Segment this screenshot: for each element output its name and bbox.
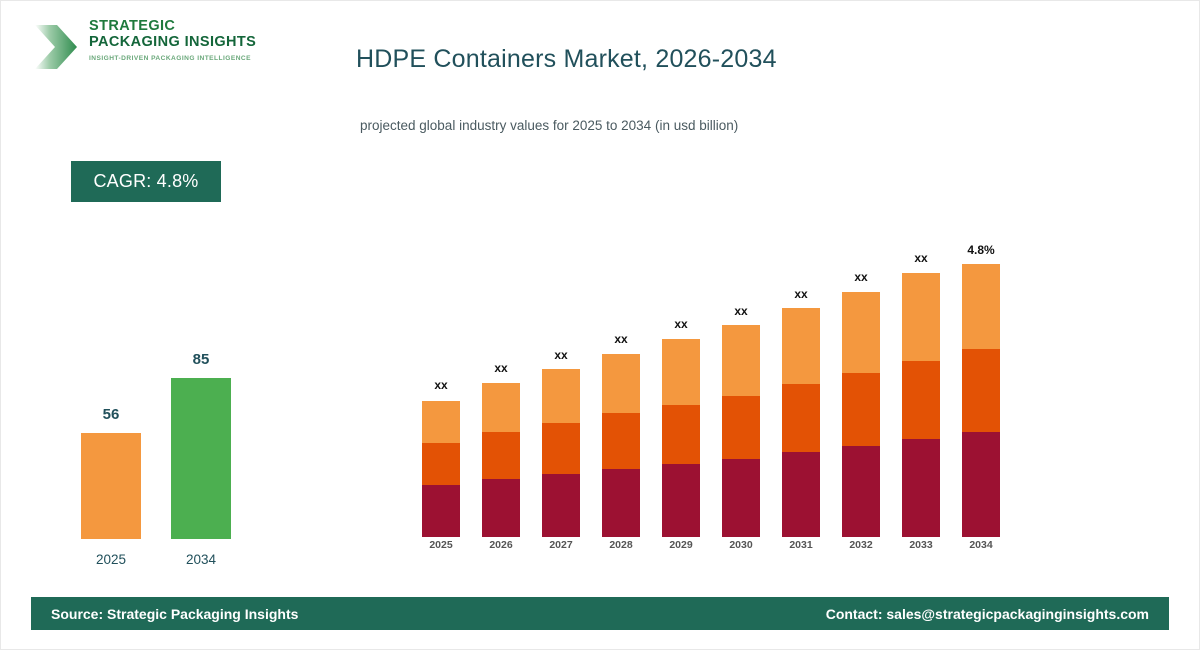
x-label-2025: 2025 xyxy=(411,539,471,551)
segment-segment-2-2034 xyxy=(962,349,1000,432)
bar-2025 xyxy=(81,433,141,539)
endpoint-plot-area: 5685 xyxy=(61,359,291,539)
footer-source: Source: Strategic Packaging Insights xyxy=(51,606,298,622)
segment-segment-3-2030 xyxy=(722,325,760,396)
segment-segment-3-2034 xyxy=(962,264,1000,349)
stacked-bar-2027 xyxy=(542,369,580,537)
x-label-2025: 2025 xyxy=(81,552,141,567)
segment-segment-2-2026 xyxy=(482,432,520,479)
segment-segment-1-2031 xyxy=(782,452,820,537)
bar-top-label-2027: xx xyxy=(531,348,591,362)
stacked-bar-2026 xyxy=(482,383,520,537)
bar-top-label-2033: xx xyxy=(891,251,951,265)
x-label-2028: 2028 xyxy=(591,539,651,551)
x-label-2026: 2026 xyxy=(471,539,531,551)
segment-segment-3-2027 xyxy=(542,369,580,423)
segment-segment-2-2033 xyxy=(902,361,940,439)
segment-segment-1-2027 xyxy=(542,474,580,537)
x-label-2033: 2033 xyxy=(891,539,951,551)
stacked-bar-2034 xyxy=(962,264,1000,537)
segment-segment-3-2025 xyxy=(422,401,460,443)
brand-name-line2: PACKAGING INSIGHTS xyxy=(89,35,256,51)
segment-segment-2-2032 xyxy=(842,373,880,446)
brand-name-line1: STRATEGIC xyxy=(89,19,256,35)
bar-top-label-2030: xx xyxy=(711,304,771,318)
footer-bar: Source: Strategic Packaging Insights Con… xyxy=(31,597,1169,630)
segment-segment-3-2032 xyxy=(842,292,880,373)
footer-contact[interactable]: Contact: sales@strategicpackaginginsight… xyxy=(826,606,1149,622)
bar-value-2034: 85 xyxy=(171,351,231,368)
bar-top-label-2029: xx xyxy=(651,317,711,331)
cagr-badge: CAGR: 4.8% xyxy=(71,161,221,202)
segment-segment-2-2027 xyxy=(542,423,580,474)
page-subtitle: projected global industry values for 202… xyxy=(360,118,738,133)
segment-segment-3-2031 xyxy=(782,308,820,384)
segment-segment-1-2033 xyxy=(902,439,940,537)
segment-segment-1-2029 xyxy=(662,464,700,537)
bar-2034 xyxy=(171,378,231,539)
segment-segment-2-2030 xyxy=(722,396,760,459)
bar-top-label-2026: xx xyxy=(471,361,531,375)
stacked-bar-2031 xyxy=(782,308,820,537)
x-label-2032: 2032 xyxy=(831,539,891,551)
stacked-bar-2028 xyxy=(602,354,640,537)
segment-segment-3-2026 xyxy=(482,383,520,432)
bar-top-label-2032: xx xyxy=(831,270,891,284)
x-label-2034: 2034 xyxy=(171,552,231,567)
x-label-2029: 2029 xyxy=(651,539,711,551)
page-title: HDPE Containers Market, 2026-2034 xyxy=(356,45,777,74)
segment-segment-2-2031 xyxy=(782,384,820,452)
endpoint-comparison-chart: 5685 20252034 xyxy=(61,321,291,571)
segment-segment-3-2028 xyxy=(602,354,640,413)
projection-stacked-chart: xxxxxxxxxxxxxxxxxx4.8% 20252026202720282… xyxy=(411,201,1011,561)
stacked-bar-2030 xyxy=(722,325,760,537)
bar-top-label-2034: 4.8% xyxy=(951,243,1011,257)
brand-wordmark: STRATEGIC PACKAGING INSIGHTS INSIGHT-DRI… xyxy=(89,19,256,62)
x-label-2031: 2031 xyxy=(771,539,831,551)
stacked-bar-2029 xyxy=(662,339,700,537)
segment-segment-1-2032 xyxy=(842,446,880,537)
brand-logo: STRATEGIC PACKAGING INSIGHTS INSIGHT-DRI… xyxy=(31,17,251,79)
bar-top-label-2031: xx xyxy=(771,287,831,301)
segment-segment-1-2028 xyxy=(602,469,640,537)
stacked-bar-2025 xyxy=(422,401,460,537)
x-label-2034: 2034 xyxy=(951,539,1011,551)
x-label-2027: 2027 xyxy=(531,539,591,551)
chevron-logo-icon xyxy=(31,21,83,73)
stacked-bar-2033 xyxy=(902,273,940,537)
segment-segment-1-2030 xyxy=(722,459,760,537)
segment-segment-3-2033 xyxy=(902,273,940,361)
segment-segment-2-2025 xyxy=(422,443,460,485)
bar-value-2025: 56 xyxy=(81,406,141,423)
bar-top-label-2028: xx xyxy=(591,332,651,346)
brand-tagline: INSIGHT-DRIVEN PACKAGING INTELLIGENCE xyxy=(89,55,256,62)
segment-segment-2-2029 xyxy=(662,405,700,464)
stacked-bar-2032 xyxy=(842,292,880,537)
segment-segment-2-2028 xyxy=(602,413,640,469)
chart-page: STRATEGIC PACKAGING INSIGHTS INSIGHT-DRI… xyxy=(0,0,1200,650)
segment-segment-1-2034 xyxy=(962,432,1000,537)
bar-top-label-2025: xx xyxy=(411,378,471,392)
stacked-plot-area: xxxxxxxxxxxxxxxxxx4.8% xyxy=(411,201,1011,537)
segment-segment-1-2026 xyxy=(482,479,520,537)
segment-segment-3-2029 xyxy=(662,339,700,405)
segment-segment-1-2025 xyxy=(422,485,460,537)
x-label-2030: 2030 xyxy=(711,539,771,551)
